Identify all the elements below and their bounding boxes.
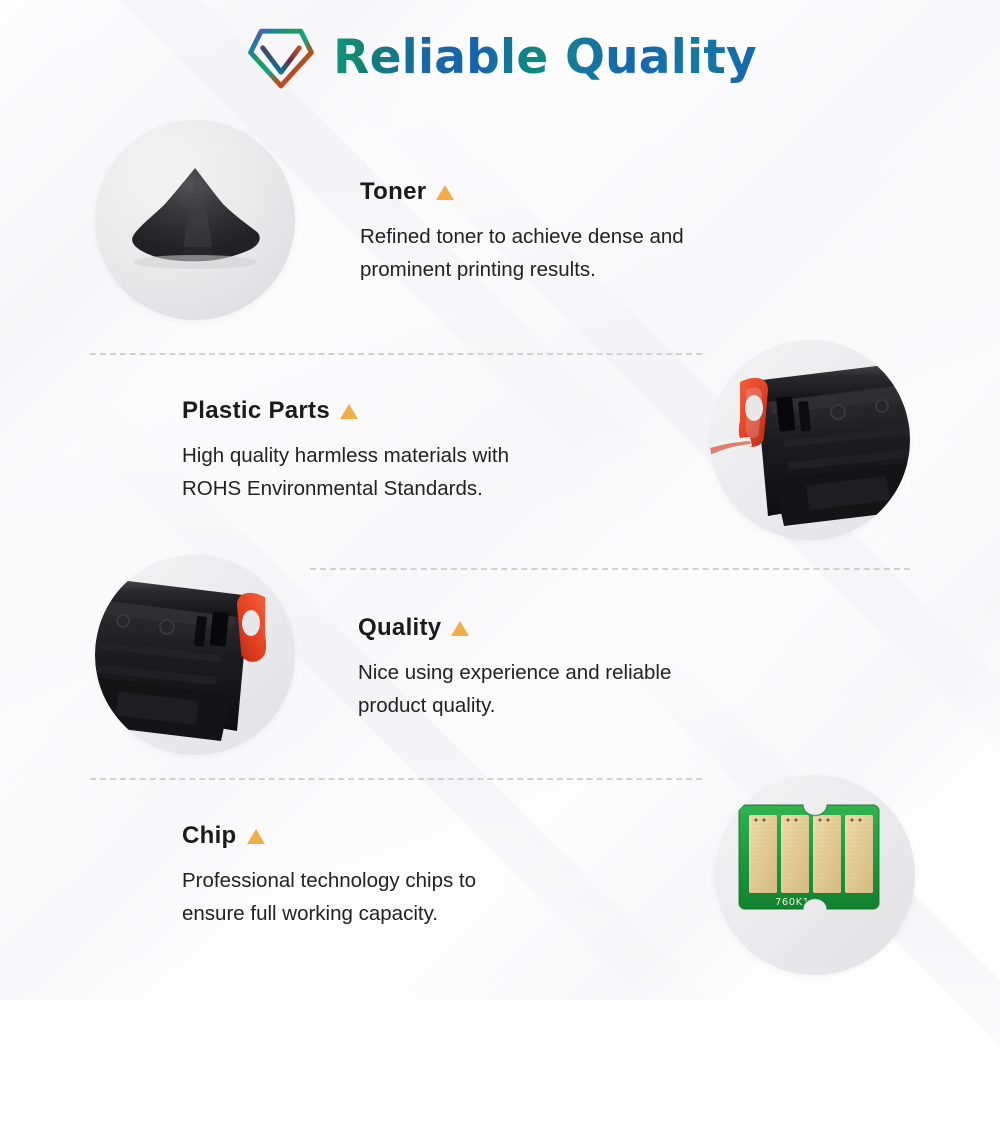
orange-triangle-icon: [340, 404, 358, 419]
chip-silkscreen-label: 760K1: [775, 897, 810, 908]
toner-cartridge-mirrored-photo: [95, 555, 295, 755]
feature-heading-chip: Chip: [182, 822, 582, 850]
page-title: Reliable Quality: [333, 30, 757, 85]
divider-3: [90, 778, 702, 780]
orange-triangle-icon: [247, 829, 265, 844]
orange-triangle-icon: [451, 621, 469, 636]
feature-heading-plastic-parts: Plastic Parts: [182, 397, 612, 425]
divider-2: [310, 568, 910, 570]
toner-cartridge-photo: [710, 340, 910, 540]
feature-body: High quality harmless materials with ROH…: [182, 439, 612, 506]
feature-title: Chip: [182, 822, 237, 850]
chip-text-block: Chip Professional technology chips to en…: [182, 822, 582, 931]
quality-text-block: Quality Nice using experience and reliab…: [358, 614, 758, 723]
feature-title: Toner: [360, 178, 426, 206]
printer-chip-pcb-photo: 760K1: [715, 775, 915, 975]
page-header: Reliable Quality: [0, 14, 1000, 100]
divider-1: [90, 353, 702, 355]
feature-body: Nice using experience and reliable produ…: [358, 656, 758, 723]
feature-heading-toner: Toner: [360, 178, 760, 206]
toner-text-block: Toner Refined toner to achieve dense and…: [360, 178, 760, 287]
feature-heading-quality: Quality: [358, 614, 758, 642]
toner-powder-pile-photo: [95, 120, 295, 320]
feature-title: Quality: [358, 614, 441, 642]
feature-body: Refined toner to achieve dense and promi…: [360, 220, 760, 287]
orange-triangle-icon: [436, 185, 454, 200]
plastic-parts-text-block: Plastic Parts High quality harmless mate…: [182, 397, 612, 506]
feature-title: Plastic Parts: [182, 397, 330, 425]
gem-diamond-logo-icon: [243, 19, 319, 95]
feature-body: Professional technology chips to ensure …: [182, 864, 582, 931]
